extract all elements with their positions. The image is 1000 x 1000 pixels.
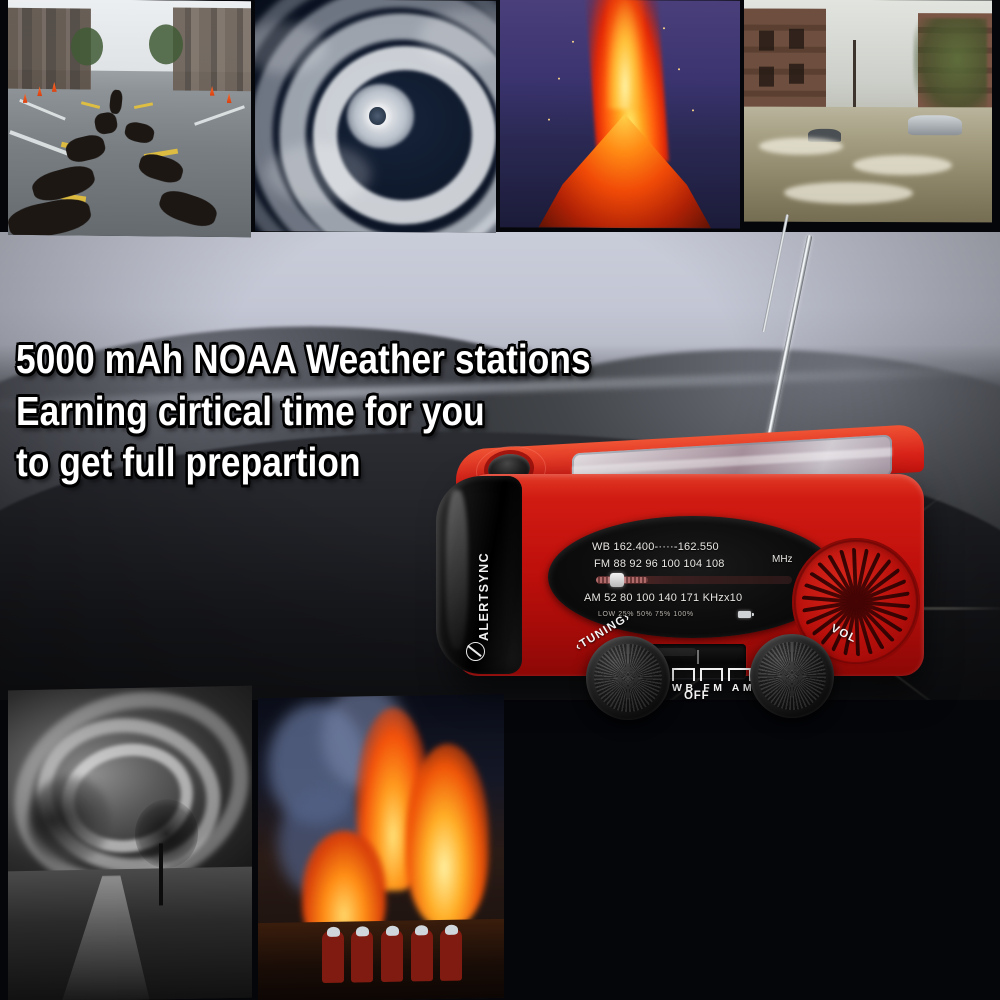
tornado-scene [8, 686, 252, 1000]
headline-block: 5000 mAh NOAA Weather stations Earning c… [16, 334, 666, 489]
volcano-cone [538, 114, 711, 229]
band-selector-switch[interactable] [672, 668, 748, 680]
collage-tile-earthquake [8, 0, 251, 237]
lcd-indicator [697, 650, 699, 664]
firefighter [411, 929, 433, 981]
product-marketing-image: 5000 mAh NOAA Weather stations Earning c… [0, 0, 1000, 1000]
off-label: OFF [684, 690, 709, 702]
earthquake-scene [8, 0, 251, 237]
tree-trunk [159, 843, 163, 905]
submerged-car [908, 116, 963, 136]
flames [406, 743, 490, 927]
window [789, 64, 804, 84]
battery-scale: LOW 25% 50% 75% 100% [598, 611, 694, 618]
ember [558, 77, 560, 79]
battery-icon [738, 611, 751, 618]
window [759, 31, 774, 51]
headline-line-2: Earning cirtical time for you [16, 386, 575, 438]
headline-line-1: 5000 mAh NOAA Weather stations [16, 334, 575, 386]
lava-plume-core [606, 0, 644, 110]
tree [149, 24, 183, 64]
cloud-wisp [265, 143, 371, 204]
firefighter-helmet [445, 925, 458, 935]
brand-logo: ALERTSYNC [458, 538, 498, 658]
dial-pointer [610, 573, 624, 587]
firefighter-helmet [386, 926, 399, 936]
brand-name: ALERTSYNC [477, 537, 491, 641]
collage-tile-wildfire [258, 694, 504, 1000]
hurricane-scene [255, 0, 496, 233]
ember [572, 41, 574, 43]
firefighter [381, 929, 403, 981]
brand-mark-icon [466, 642, 485, 661]
bottom-collage-row [0, 672, 1000, 1000]
band-segment-am[interactable] [728, 668, 751, 681]
band-segment-fm[interactable] [700, 668, 723, 681]
dial-fm-row: FM 88 92 96 100 104 108 [594, 558, 725, 570]
band-segment-wb[interactable] [672, 668, 695, 681]
collage-tile-tornado [8, 686, 252, 1000]
volcano-scene [500, 0, 740, 229]
buildings-right [173, 8, 251, 94]
collage-tile-hurricane [255, 0, 496, 233]
volume-knob[interactable] [750, 634, 834, 718]
firefighter [322, 930, 344, 982]
firefighter-helmet [415, 925, 428, 935]
window [759, 66, 774, 86]
tuning-knob[interactable] [586, 636, 670, 720]
window [789, 29, 804, 49]
ember [692, 110, 694, 112]
top-collage-row [0, 0, 1000, 246]
dial-am-row: AM 52 80 100 140 171 KHzx10 [584, 592, 742, 604]
firefighter-helmet [356, 926, 369, 936]
collage-tile-flood [744, 0, 992, 222]
collage-tile-volcano [500, 0, 740, 229]
dial-wb-row: WB 162.400-····-162.550 [592, 541, 719, 553]
ember [663, 28, 665, 30]
ember [548, 118, 550, 120]
flood-scene [744, 0, 992, 222]
wildfire-scene [258, 694, 504, 1000]
firefighter [440, 928, 462, 980]
firefighter [351, 930, 373, 982]
dial-mhz-unit: MHz [772, 554, 793, 565]
headline-line-3: to get full prepartion [16, 437, 575, 489]
dial-slider-track [596, 576, 792, 584]
firefighter-helmet [327, 927, 340, 937]
tree [71, 28, 103, 66]
storm-debris-tree [913, 18, 987, 120]
ember [678, 69, 680, 71]
